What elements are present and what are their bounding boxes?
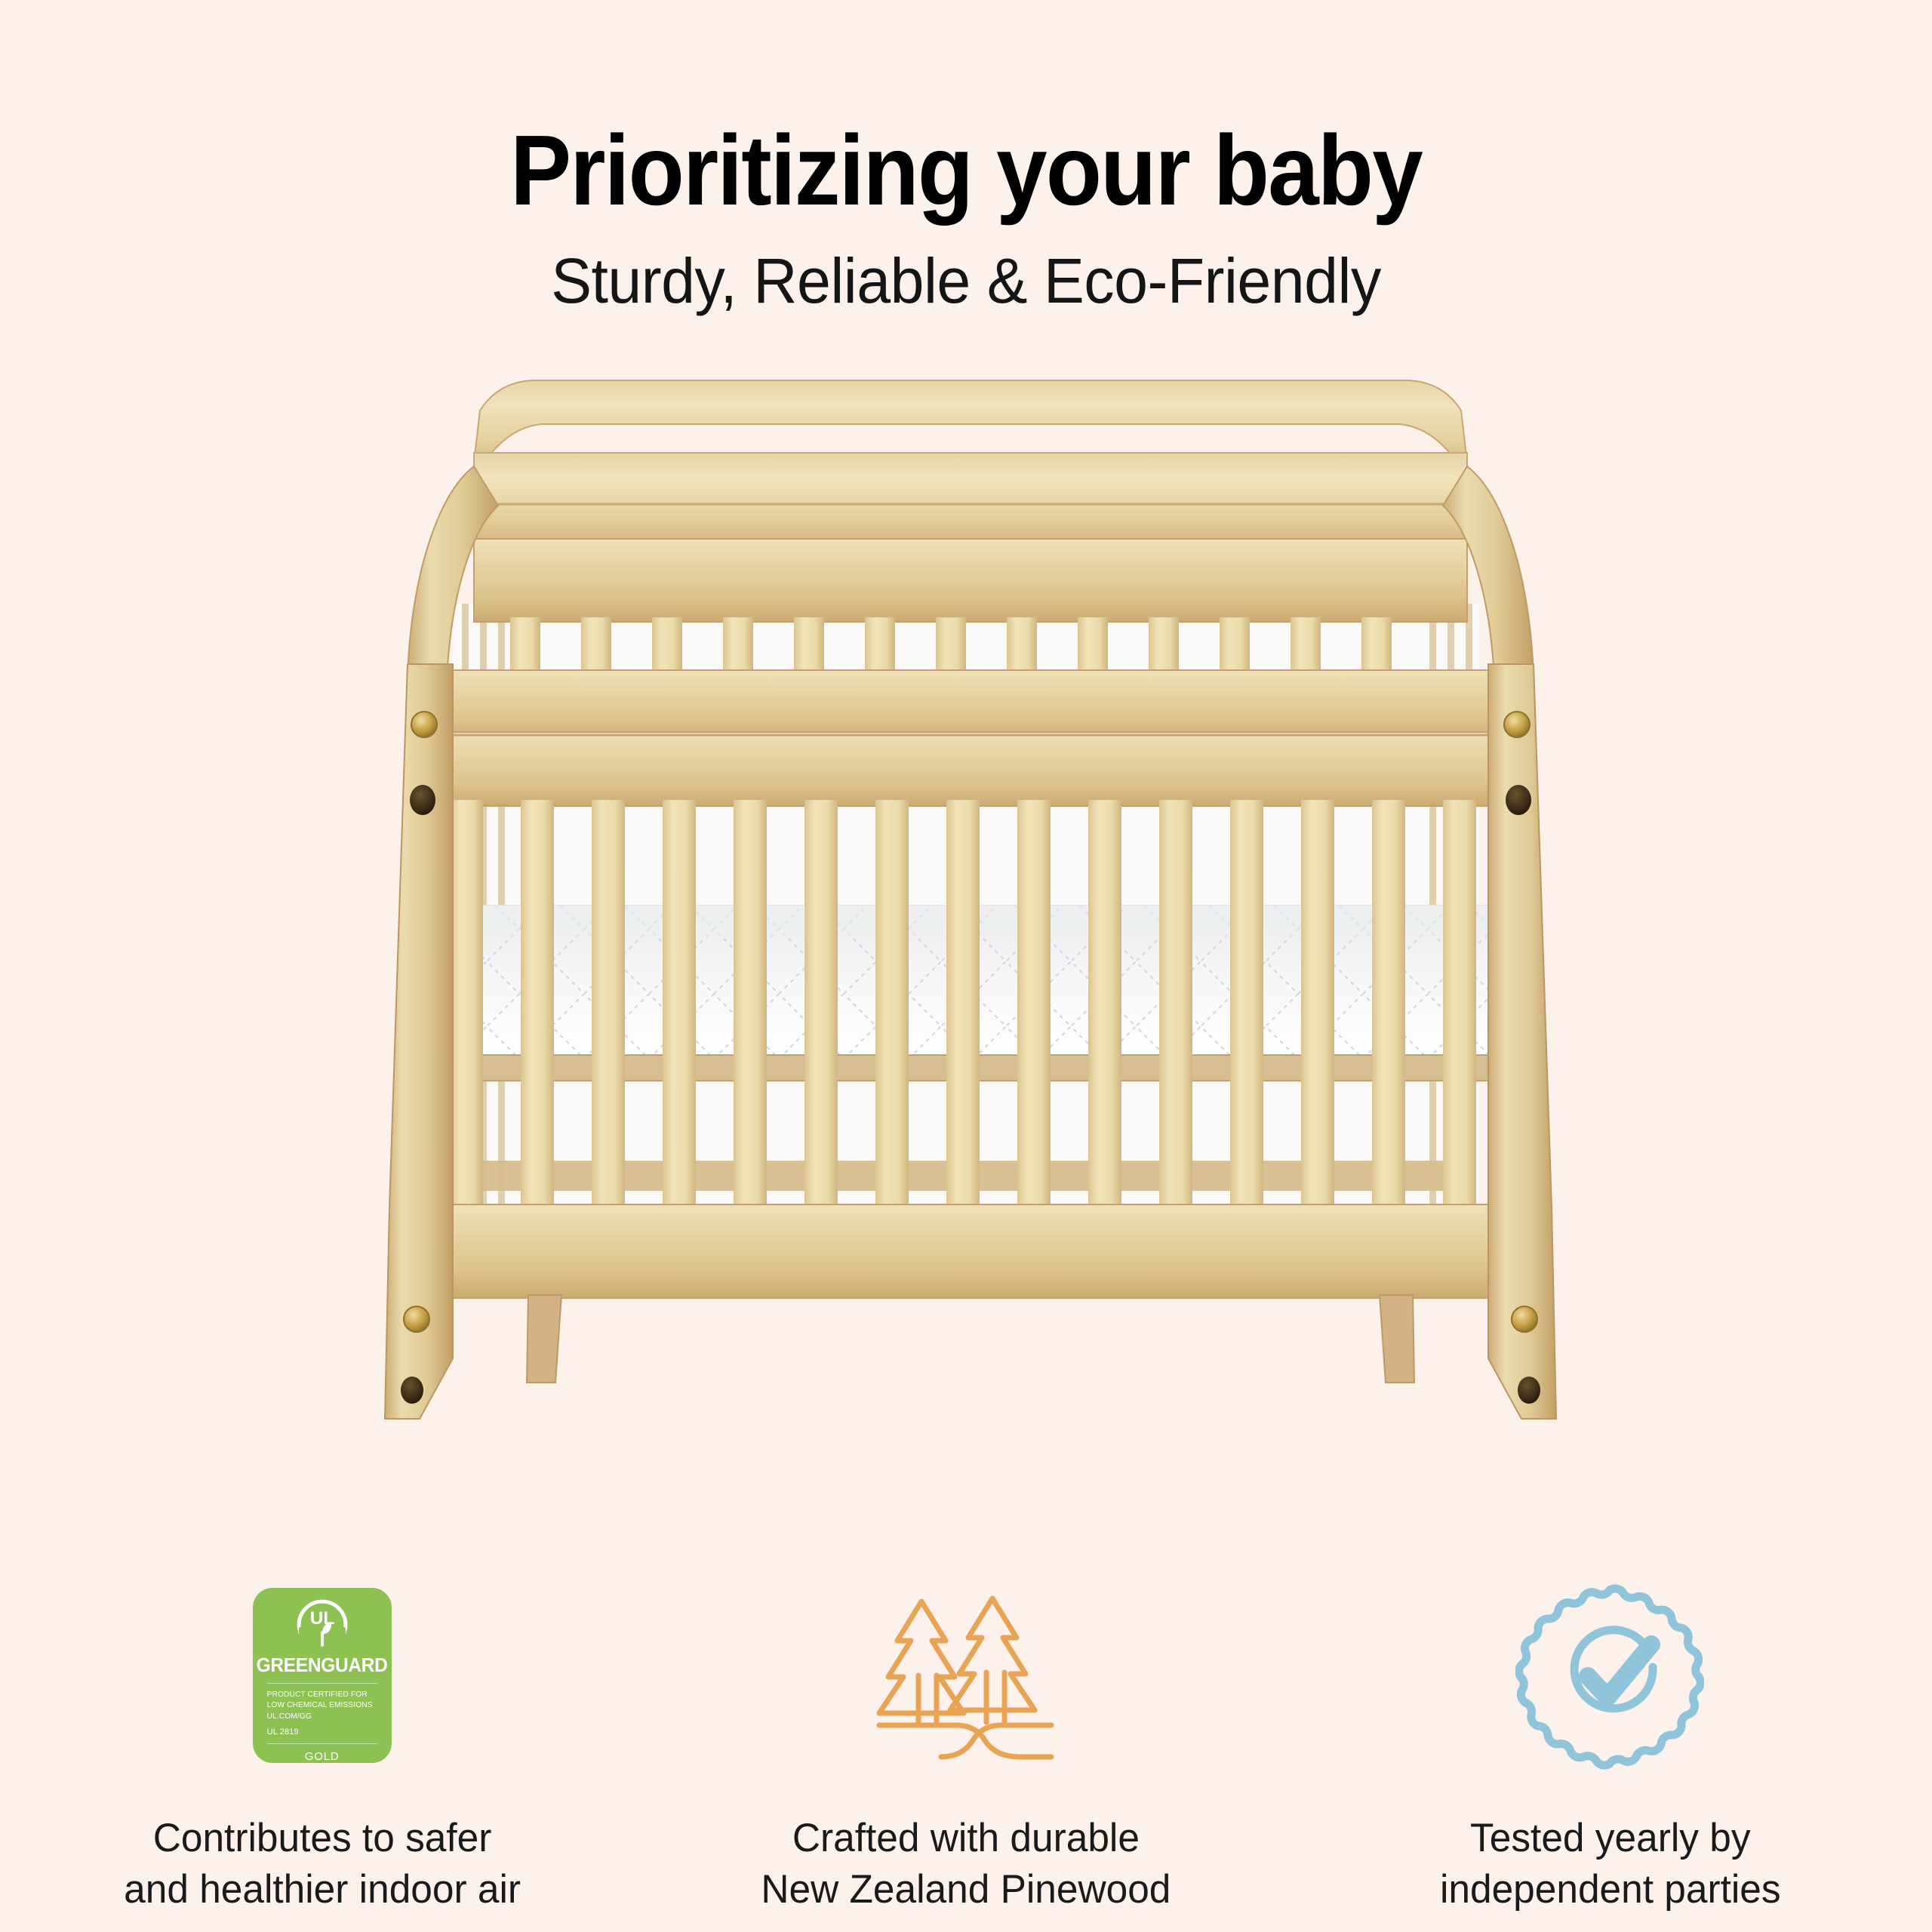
feature-pinewood: Crafted with durable New Zealand Pinewoo… — [679, 1577, 1253, 1915]
feature-caption: Tested yearly by independent parties — [1439, 1813, 1780, 1915]
divider — [267, 1743, 377, 1744]
pine-trees-glyph — [872, 1585, 1060, 1766]
greenguard-gold-certification-badge: UL GREENGUARD PRODUCT CERTIFIED FOR LOW … — [253, 1577, 392, 1774]
divider — [267, 1683, 377, 1684]
feature-greenguard: UL GREENGUARD PRODUCT CERTIFIED FOR LOW … — [35, 1577, 609, 1915]
greenguard-level: GOLD — [305, 1750, 340, 1763]
feature-tested: Tested yearly by independent parties — [1323, 1577, 1897, 1915]
crib-front-slats — [450, 800, 1476, 1223]
crib-illustration — [0, 377, 1932, 1555]
feature-row: UL GREENGUARD PRODUCT CERTIFIED FOR LOW … — [0, 1577, 1932, 1915]
verified-seal-check-icon — [1515, 1577, 1704, 1774]
crib-bottom-rail — [408, 1204, 1534, 1298]
greenguard-brand: GREENGUARD — [257, 1655, 388, 1677]
feature-caption: Crafted with durable New Zealand Pinewoo… — [761, 1813, 1171, 1915]
header: Prioritizing your baby Sturdy, Reliable … — [0, 0, 1932, 312]
pine-trees-icon — [872, 1577, 1060, 1774]
crib-headboard — [474, 380, 1467, 622]
crib-rear-legs — [527, 1295, 1414, 1383]
greenguard-badge-card: UL GREENGUARD PRODUCT CERTIFIED FOR LOW … — [253, 1588, 392, 1763]
ul-leaf-icon: UL — [290, 1598, 355, 1651]
crib-top-front-rail — [408, 670, 1534, 806]
greenguard-standard: UL 2819 — [267, 1727, 377, 1737]
verified-seal-glyph — [1515, 1581, 1704, 1770]
product-image — [0, 377, 1932, 1555]
greenguard-fine-print: PRODUCT CERTIFIED FOR LOW CHEMICAL EMISS… — [267, 1690, 377, 1722]
feature-caption: Contributes to safer and healthier indoo… — [124, 1813, 521, 1915]
page-headline: Prioritizing your baby — [77, 0, 1854, 220]
page-subhead: Sturdy, Reliable & Eco-Friendly — [38, 220, 1894, 312]
